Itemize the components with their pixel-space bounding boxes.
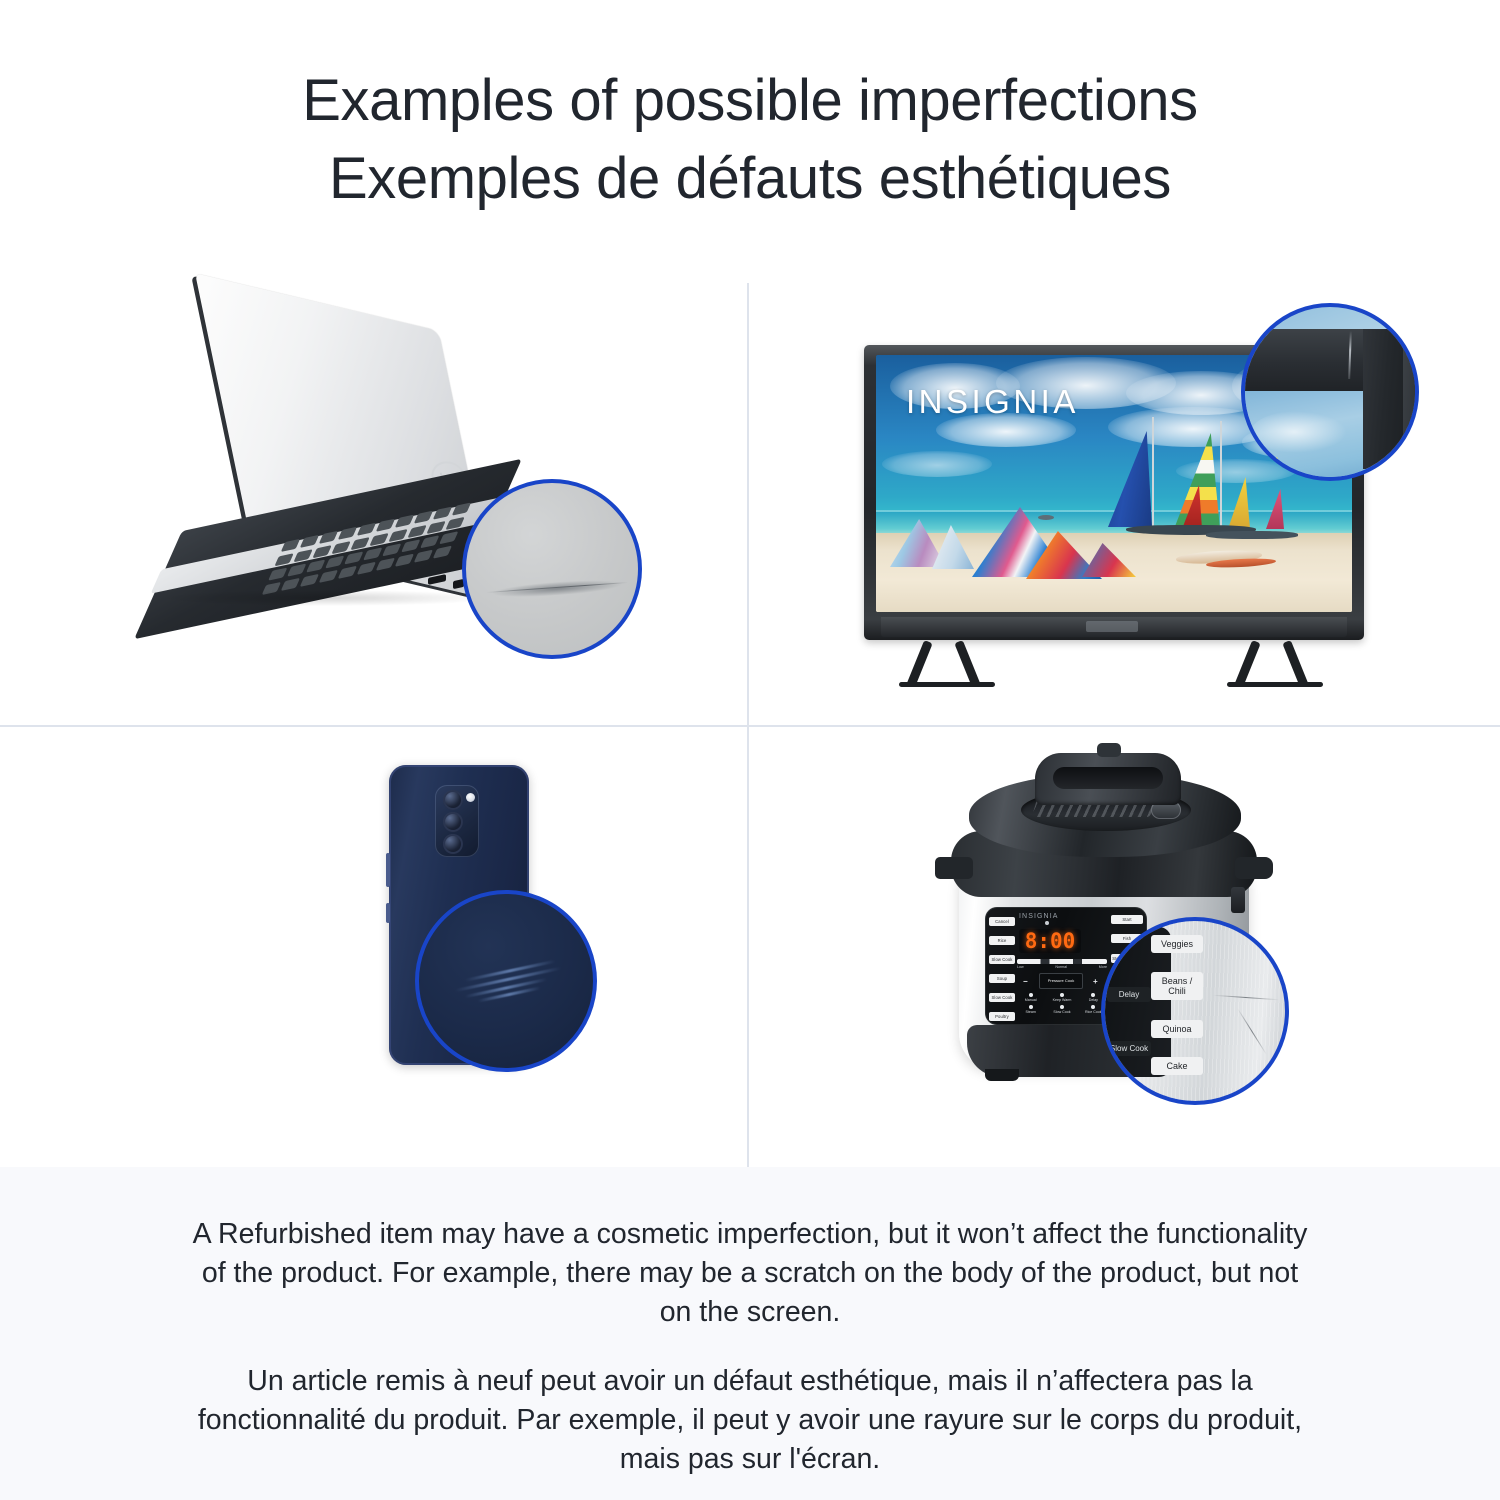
magnified-cloud (1251, 411, 1347, 453)
cooker-center-controls[interactable]: Low Normal More − + Pressure Cook Manual… (1017, 959, 1107, 1019)
magnified-button: Quinoa (1151, 1020, 1203, 1038)
cooker-brand-label: INSIGNIA (1019, 913, 1059, 920)
camera-module (435, 785, 479, 857)
laptop-scratch-mark (482, 576, 633, 600)
cooker-button[interactable]: Soup (989, 974, 1015, 983)
cooker-button[interactable]: Rice (989, 936, 1015, 945)
cooker-level-label: Low (1017, 965, 1024, 969)
page-title-english: Examples of possible imperfections (0, 62, 1500, 140)
laptop-magnifier-circle (462, 479, 642, 659)
magnified-bezel-side (1403, 333, 1419, 469)
refurbished-imperfections-infographic: Examples of possible imperfections Exemp… (0, 0, 1500, 1500)
magnified-button: Veggies (1151, 935, 1203, 953)
cooker-function-key[interactable]: Slow Cook (1048, 1005, 1075, 1014)
cooker-left-button-column[interactable]: Cancel Rice Slow Cook Soup Slow Cook Pou… (989, 917, 1015, 1021)
cooker-foot-left (985, 1069, 1019, 1081)
panel-pressure-cooker: INSIGNIA 8:00 Cancel Rice Slow Cook Soup… (749, 727, 1496, 1169)
tv-stand-leg-right (1229, 640, 1321, 686)
tv-brand-badge (1086, 621, 1138, 632)
magnified-button: Beans / Chili (1151, 972, 1203, 1000)
panel-laptop (0, 283, 747, 725)
cooker-minus-button[interactable]: − (1023, 977, 1028, 986)
tv-screen-brand-logo: INSIGNIA (906, 383, 1079, 421)
magnified-button: Cake (1151, 1057, 1203, 1075)
tv-stand-foot-right (1227, 682, 1323, 687)
cooker-function-key[interactable]: Steam (1017, 1005, 1044, 1014)
cooker-function-key[interactable]: Keep Warm (1048, 993, 1075, 1002)
magnified-dark-button-column: Delay Slow Cook (1107, 967, 1151, 1075)
cooker-side-latch (1231, 887, 1245, 913)
panel-television: INSIGNIA (749, 283, 1496, 725)
disclaimer-french: Un article remis à neuf peut avoir un dé… (186, 1362, 1314, 1479)
cooker-function-keys[interactable]: Manual Keep Warm Delay Steam Slow Cook R… (1017, 993, 1107, 1014)
cooker-button[interactable]: Cancel (989, 917, 1015, 926)
catamaran-hull (1206, 531, 1298, 539)
magnified-button: Delay (1107, 987, 1151, 1002)
yellow-sail (1228, 477, 1250, 529)
cooker-led-display: 8:00 (1019, 929, 1081, 953)
product-examples-grid: INSIGNIA (0, 283, 1500, 1167)
cooker-scratch-mark (1213, 987, 1285, 1057)
page-title: Examples of possible imperfections Exemp… (0, 62, 1500, 218)
tv-magnifier-circle (1241, 303, 1419, 481)
pressure-cooker-illustration: INSIGNIA 8:00 Cancel Rice Slow Cook Soup… (929, 739, 1329, 1139)
cooker-side-lug-right (1235, 857, 1273, 879)
sail-mast (1152, 417, 1154, 529)
laptop-drop-shadow (160, 590, 490, 606)
cooker-pressure-level-bar[interactable] (1017, 959, 1107, 964)
magnified-button-column: Veggies Beans / Chili Quinoa Cake (1151, 925, 1203, 1085)
blue-sail (1108, 431, 1152, 527)
cooker-status-indicator (1045, 921, 1049, 925)
cooker-side-lug-left (935, 857, 973, 879)
footer-disclaimer-section: A Refurbished item may have a cosmetic i… (0, 1167, 1500, 1500)
cooker-button[interactable]: Slow Cook (989, 955, 1015, 964)
disclaimer-english: A Refurbished item may have a cosmetic i… (186, 1215, 1314, 1332)
tv-stand-leg-left (901, 640, 993, 686)
laptop-illustration (150, 308, 610, 698)
television-illustration: INSIGNIA (859, 303, 1389, 703)
camera-flash-icon (466, 793, 475, 802)
page-title-french: Exemples de défauts esthétiques (0, 140, 1500, 218)
cooker-lid-handle-grip (1053, 767, 1163, 789)
cooker-level-label: Normal (1055, 965, 1067, 969)
tv-stand-foot-left (899, 682, 995, 687)
camera-lens-icon (443, 834, 463, 854)
smartphone-magnifier-circle (415, 890, 597, 1072)
camera-lens-icon (443, 812, 463, 832)
cooker-pressure-valve-icon (1097, 743, 1121, 757)
smartphone-power-button (386, 903, 390, 923)
magnified-button: Slow Cook (1107, 1041, 1151, 1056)
footer-text-container: A Refurbished item may have a cosmetic i… (186, 1215, 1314, 1479)
cooker-magnifier-circle: Delay Slow Cook Veggies Beans / Chili Qu… (1101, 917, 1289, 1105)
cooker-button[interactable]: Slow Cook (989, 993, 1015, 1002)
sail-mast (1220, 421, 1222, 529)
cooker-button[interactable]: Poultry (989, 1012, 1015, 1021)
cooker-function-key[interactable]: Manual (1017, 993, 1044, 1002)
cooker-mode-screen: Pressure Cook (1039, 973, 1083, 989)
cooker-plus-button[interactable]: + (1093, 977, 1098, 986)
cooker-display-value: 8:00 (1025, 929, 1076, 953)
distant-islet (1038, 515, 1054, 520)
cloud-shape (882, 451, 992, 477)
panel-smartphone (0, 727, 747, 1169)
cooker-pressure-level-labels: Low Normal More (1017, 965, 1107, 969)
pink-sail (1266, 489, 1284, 529)
smartphone-illustration (355, 757, 555, 1137)
camera-lens-icon (443, 790, 463, 810)
smartphone-volume-button (386, 853, 390, 887)
smartphone-scuff-marks (447, 954, 570, 1014)
